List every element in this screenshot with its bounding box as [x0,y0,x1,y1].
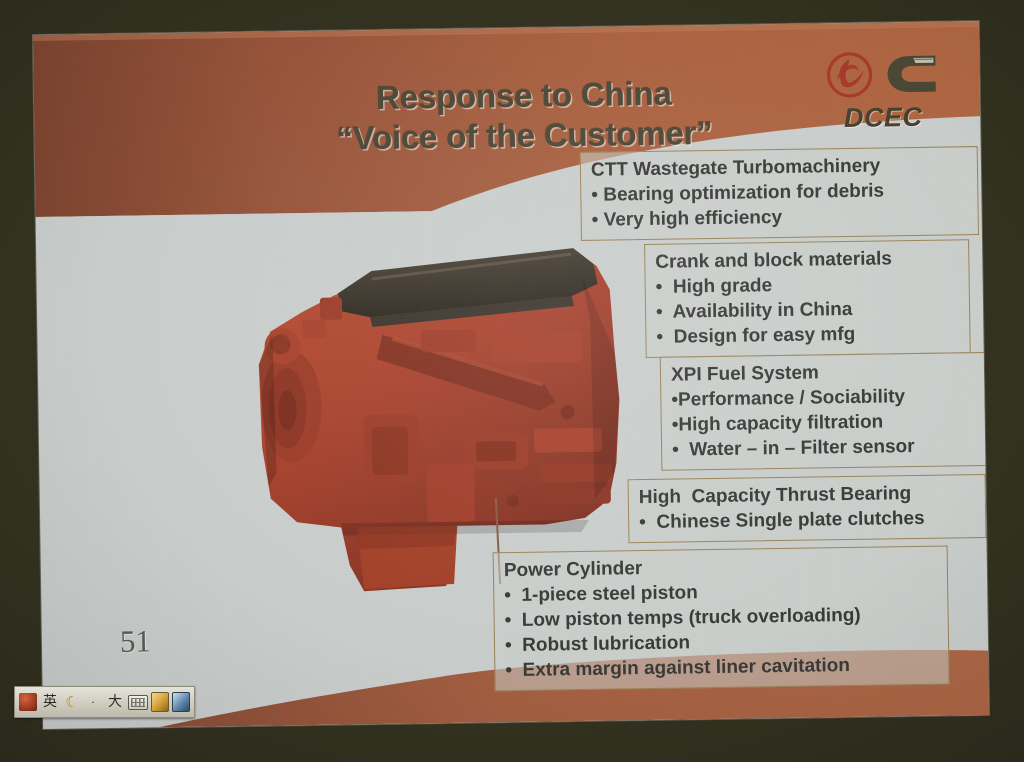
ime-english-mode[interactable]: 英 [40,693,60,712]
callout-power-cylinder: Power Cylinder • 1-piece steel piston • … [493,546,950,692]
callout-bullet: • Water – in – Filter sensor [672,433,983,463]
ime-fullwidth-toggle[interactable]: 大 [105,693,125,712]
ime-punctuation-dot[interactable]: · [84,693,102,712]
callout-bullet: • Chinese Single plate clutches [639,505,975,535]
callout-crank-and-block-materials: Crank and block materials • High grade •… [644,239,971,358]
callout-bullet: • Very high efficiency [592,202,968,233]
brand-logo-block: DCEC [807,47,958,134]
callout-ctt-wastegate-turbomachinery: CTT Wastegate Turbomachinery • Bearing o… [580,146,979,241]
ime-help-icon[interactable] [172,693,190,712]
cummins-logo-icon [883,50,940,99]
ime-language-bar[interactable]: 英 ☾ · 大 [14,686,195,718]
callout-high-capacity-thrust-bearing: High Capacity Thrust Bearing • Chinese S… [628,474,987,543]
ime-logo-icon[interactable] [19,693,37,712]
screenshot-root: Response to China “Voice of the Customer… [0,0,1024,762]
slide-title: Response to China “Voice of the Customer… [289,72,760,159]
ime-moon-icon[interactable]: ☾ [63,693,81,712]
ime-keyboard-icon[interactable] [128,693,148,712]
callout-bullet: • Extra margin against liner cavitation [505,652,938,683]
dcec-brand-text: DCEC [808,101,958,134]
title-line-1: Response to China [289,72,760,119]
slide-canvas: Response to China “Voice of the Customer… [33,21,989,729]
callout-xpi-fuel-system: XPI Fuel System •Performance / Sociabili… [660,352,989,471]
callout-bullet: • Design for easy mfg [656,321,959,351]
slide-number: 51 [120,623,152,659]
presentation-slide: Response to China “Voice of the Customer… [33,21,989,729]
dongfeng-logo-icon [825,51,874,100]
ime-softkeyboard-icon[interactable] [151,693,169,712]
logo-row [807,47,958,101]
